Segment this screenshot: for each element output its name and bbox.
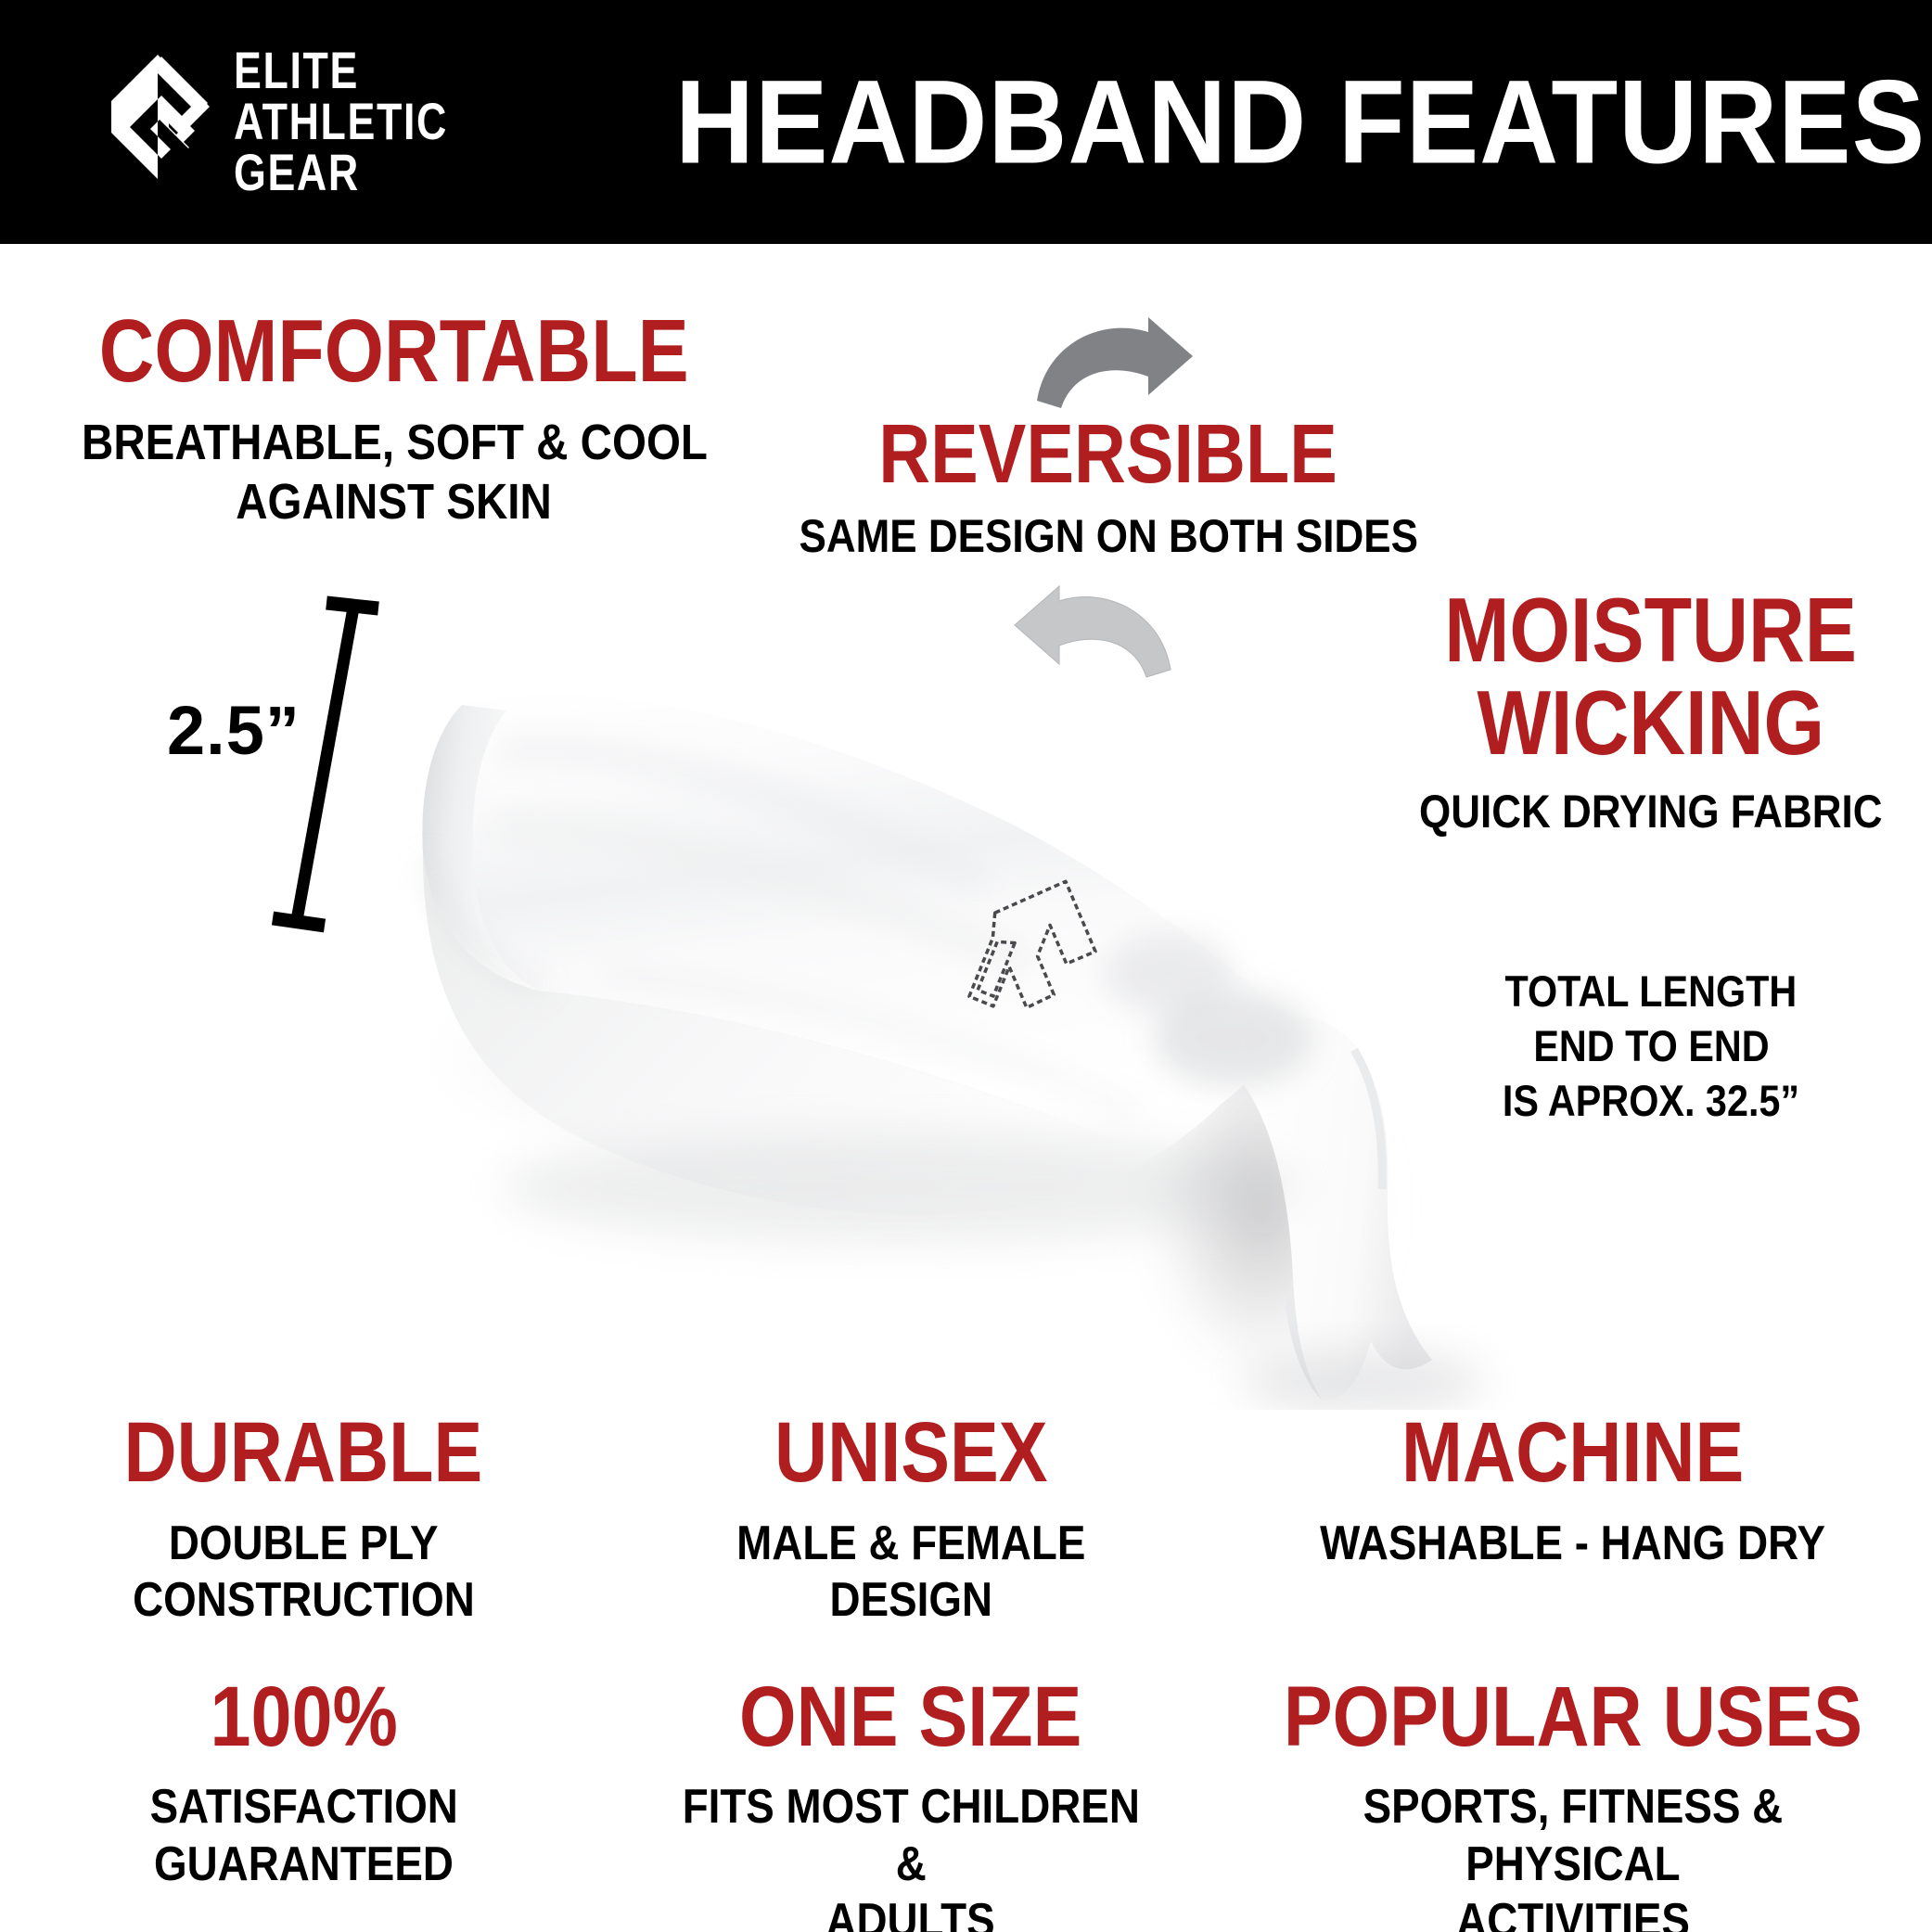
- feature-one-size-title: ONE SIZE: [630, 1674, 1193, 1761]
- feature-satisfaction: 100% SATISFACTION GUARANTEED: [0, 1674, 608, 1932]
- brand-line-1: ELITE: [234, 45, 448, 96]
- page-title-text: HEADBAND FEATURES: [675, 54, 1926, 190]
- brand-line-3: GEAR: [234, 147, 448, 198]
- feature-satisfaction-subtitle: SATISFACTION GUARANTEED: [22, 1779, 585, 1893]
- feature-durable-title: DURABLE: [22, 1410, 585, 1497]
- brand-line-2: ATHLETIC: [234, 96, 448, 147]
- feature-reversible-title: REVERSIBLE: [705, 413, 1512, 498]
- feature-reversible: REVERSIBLE SAME DESIGN ON BOTH SIDES: [705, 413, 1512, 564]
- feature-popular-uses: POPULAR USES SPORTS, FITNESS & PHYSICAL …: [1214, 1674, 1932, 1932]
- elite-e-diamond-icon: [109, 53, 213, 192]
- feature-machine-title: MACHINE: [1236, 1410, 1910, 1497]
- feature-machine: MACHINE WASHABLE - HANG DRY: [1214, 1410, 1932, 1630]
- feature-one-size-subtitle: FITS MOST CHILDREN & ADULTS: [630, 1779, 1193, 1932]
- brand-lockup: ELITE ATHLETIC GEAR: [109, 45, 502, 198]
- feature-comfortable-title: COMFORTABLE: [28, 306, 761, 397]
- page-title: HEADBAND FEATURES: [675, 54, 1932, 190]
- feature-unisex-title: UNISEX: [630, 1410, 1193, 1497]
- feature-popular-uses-subtitle: SPORTS, FITNESS & PHYSICAL ACTIVITIES: [1236, 1779, 1910, 1932]
- infographic-page: ELITE ATHLETIC GEAR HEADBAND FEATURES CO…: [0, 0, 1932, 1932]
- feature-unisex-subtitle: MALE & FEMALE DESIGN: [630, 1516, 1193, 1630]
- feature-durable: DURABLE DOUBLE PLY CONSTRUCTION: [0, 1410, 608, 1630]
- feature-popular-uses-title: POPULAR USES: [1236, 1674, 1910, 1761]
- brand-name: ELITE ATHLETIC GEAR: [234, 45, 502, 198]
- curved-arrow-right-icon: [1030, 315, 1196, 413]
- header-bar: ELITE ATHLETIC GEAR HEADBAND FEATURES: [0, 0, 1932, 244]
- dimension-label: 2.5”: [167, 691, 301, 770]
- feature-unisex: UNISEX MALE & FEMALE DESIGN: [608, 1410, 1215, 1630]
- feature-durable-subtitle: DOUBLE PLY CONSTRUCTION: [22, 1516, 585, 1630]
- product-headband-image: [306, 575, 1586, 1410]
- feature-comfortable-subtitle: BREATHABLE, SOFT & COOL AGAINST SKIN: [28, 414, 761, 531]
- feature-grid: DURABLE DOUBLE PLY CONSTRUCTION UNISEX M…: [0, 1410, 1932, 1932]
- feature-satisfaction-title: 100%: [22, 1674, 585, 1761]
- feature-reversible-subtitle: SAME DESIGN ON BOTH SIDES: [705, 509, 1512, 564]
- feature-machine-subtitle: WASHABLE - HANG DRY: [1236, 1516, 1910, 1572]
- feature-one-size: ONE SIZE FITS MOST CHILDREN & ADULTS: [608, 1674, 1215, 1932]
- feature-comfortable: COMFORTABLE BREATHABLE, SOFT & COOL AGAI…: [28, 306, 761, 531]
